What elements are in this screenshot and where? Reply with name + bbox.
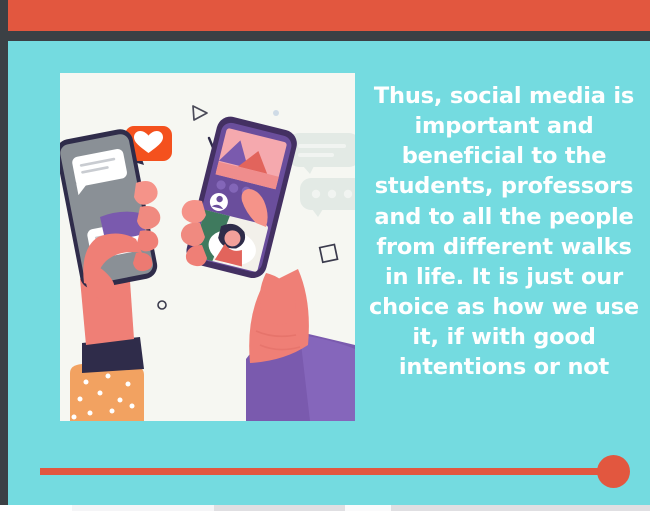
- presentation-slide: Thus, social media is important and bene…: [0, 0, 650, 511]
- social-media-illustration: [60, 73, 355, 421]
- progress-slider-track[interactable]: [40, 468, 612, 475]
- slide-canvas: Thus, social media is important and bene…: [8, 41, 650, 505]
- window-bottom-strip-c: [345, 505, 391, 511]
- window-left-edge: [0, 0, 8, 505]
- window-bottom-strip-a: [0, 505, 72, 511]
- top-accent-bar: [8, 0, 650, 31]
- top-chrome-gap: [8, 31, 650, 41]
- window-bottom-strip-b: [72, 505, 214, 511]
- progress-slider-handle[interactable]: [597, 455, 630, 488]
- slide-body-text: Thus, social media is important and bene…: [368, 81, 640, 382]
